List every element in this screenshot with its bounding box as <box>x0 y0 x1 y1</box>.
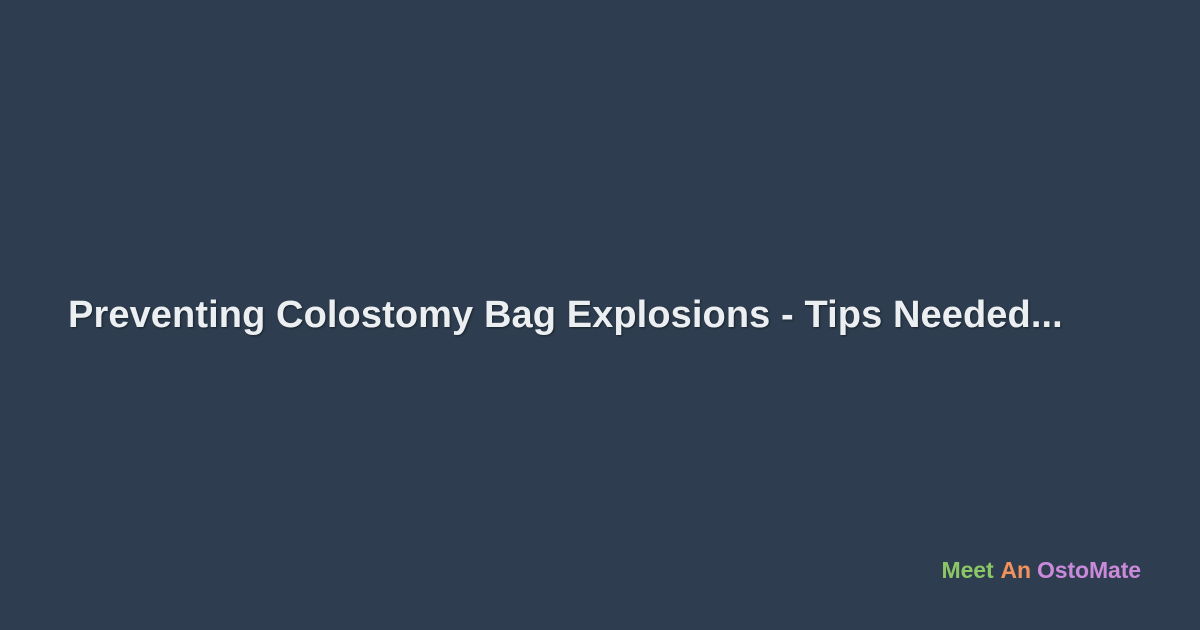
social-share-card: Preventing Colostomy Bag Explosions - Ti… <box>0 0 1200 630</box>
brand-logo[interactable]: Meet An OstoMate <box>942 557 1141 583</box>
title-block: Preventing Colostomy Bag Explosions - Ti… <box>0 0 1200 630</box>
brand-word-meet: Meet <box>942 557 994 583</box>
brand-word-ostomate: OstoMate <box>1037 557 1141 583</box>
brand-word-an: An <box>1001 557 1031 583</box>
page-title: Preventing Colostomy Bag Explosions - Ti… <box>68 292 1063 338</box>
